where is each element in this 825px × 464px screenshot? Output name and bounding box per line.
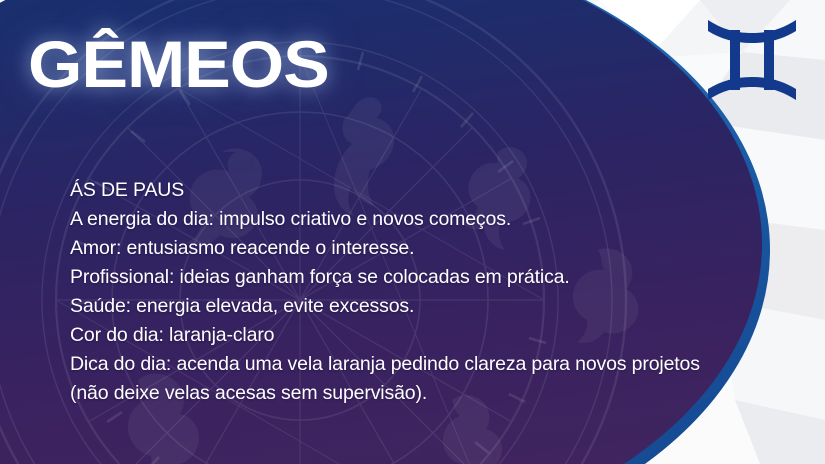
reading-line-color: Cor do dia: laranja-claro xyxy=(70,321,710,350)
card-name: ÁS DE PAUS xyxy=(70,176,710,205)
reading-text-block: ÁS DE PAUS A energia do dia: impulso cri… xyxy=(70,176,710,408)
reading-line-energy: A energia do dia: impulso criativo e nov… xyxy=(70,205,710,234)
reading-line-professional: Profissional: ideias ganham força se col… xyxy=(70,263,710,292)
page-title: GÊMEOS xyxy=(28,31,329,97)
reading-line-love: Amor: entusiasmo reacende o interesse. xyxy=(70,234,710,263)
horoscope-card: GÊMEOS ÁS DE PAUS A energia do dia: impu… xyxy=(0,0,825,464)
reading-line-tip: Dica do dia: acenda uma vela laranja ped… xyxy=(70,350,710,408)
reading-line-health: Saúde: energia elevada, evite excessos. xyxy=(70,292,710,321)
gemini-glyph-icon xyxy=(702,10,802,110)
